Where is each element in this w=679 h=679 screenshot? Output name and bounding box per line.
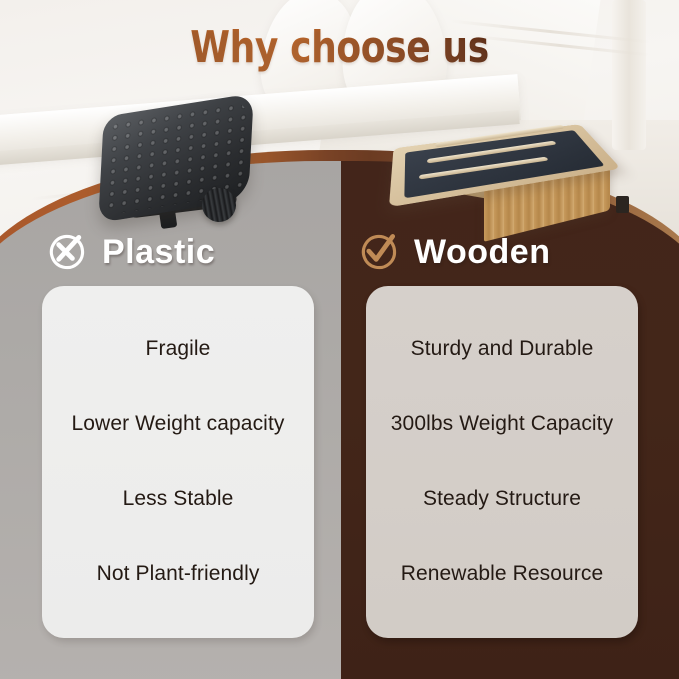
plastic-heading: Plastic — [102, 233, 215, 272]
list-item: Sturdy and Durable — [411, 336, 594, 362]
page-title: Why choose us — [61, 22, 618, 73]
plastic-section-header: Plastic — [44, 230, 215, 274]
list-item: Lower Weight capacity — [72, 411, 285, 437]
list-item: Steady Structure — [423, 486, 581, 512]
wooden-feature-card: Sturdy and Durable 300lbs Weight Capacit… — [366, 286, 638, 638]
wooden-footrest-image — [388, 112, 644, 224]
plastic-footrest-image — [76, 96, 272, 226]
list-item: Less Stable — [123, 486, 234, 512]
infographic-root: Why choose us — [0, 0, 679, 679]
list-item: Renewable Resource — [401, 561, 604, 587]
list-item: Not Plant-friendly — [97, 561, 260, 587]
list-item: Fragile — [146, 336, 211, 362]
circle-x-icon — [44, 230, 88, 274]
list-item: 300lbs Weight Capacity — [391, 411, 613, 437]
plastic-feature-card: Fragile Lower Weight capacity Less Stabl… — [42, 286, 314, 638]
wooden-footrest-leg — [616, 196, 629, 213]
wooden-heading: Wooden — [414, 233, 550, 272]
wooden-section-header: Wooden — [356, 230, 550, 274]
circle-check-icon — [356, 230, 400, 274]
